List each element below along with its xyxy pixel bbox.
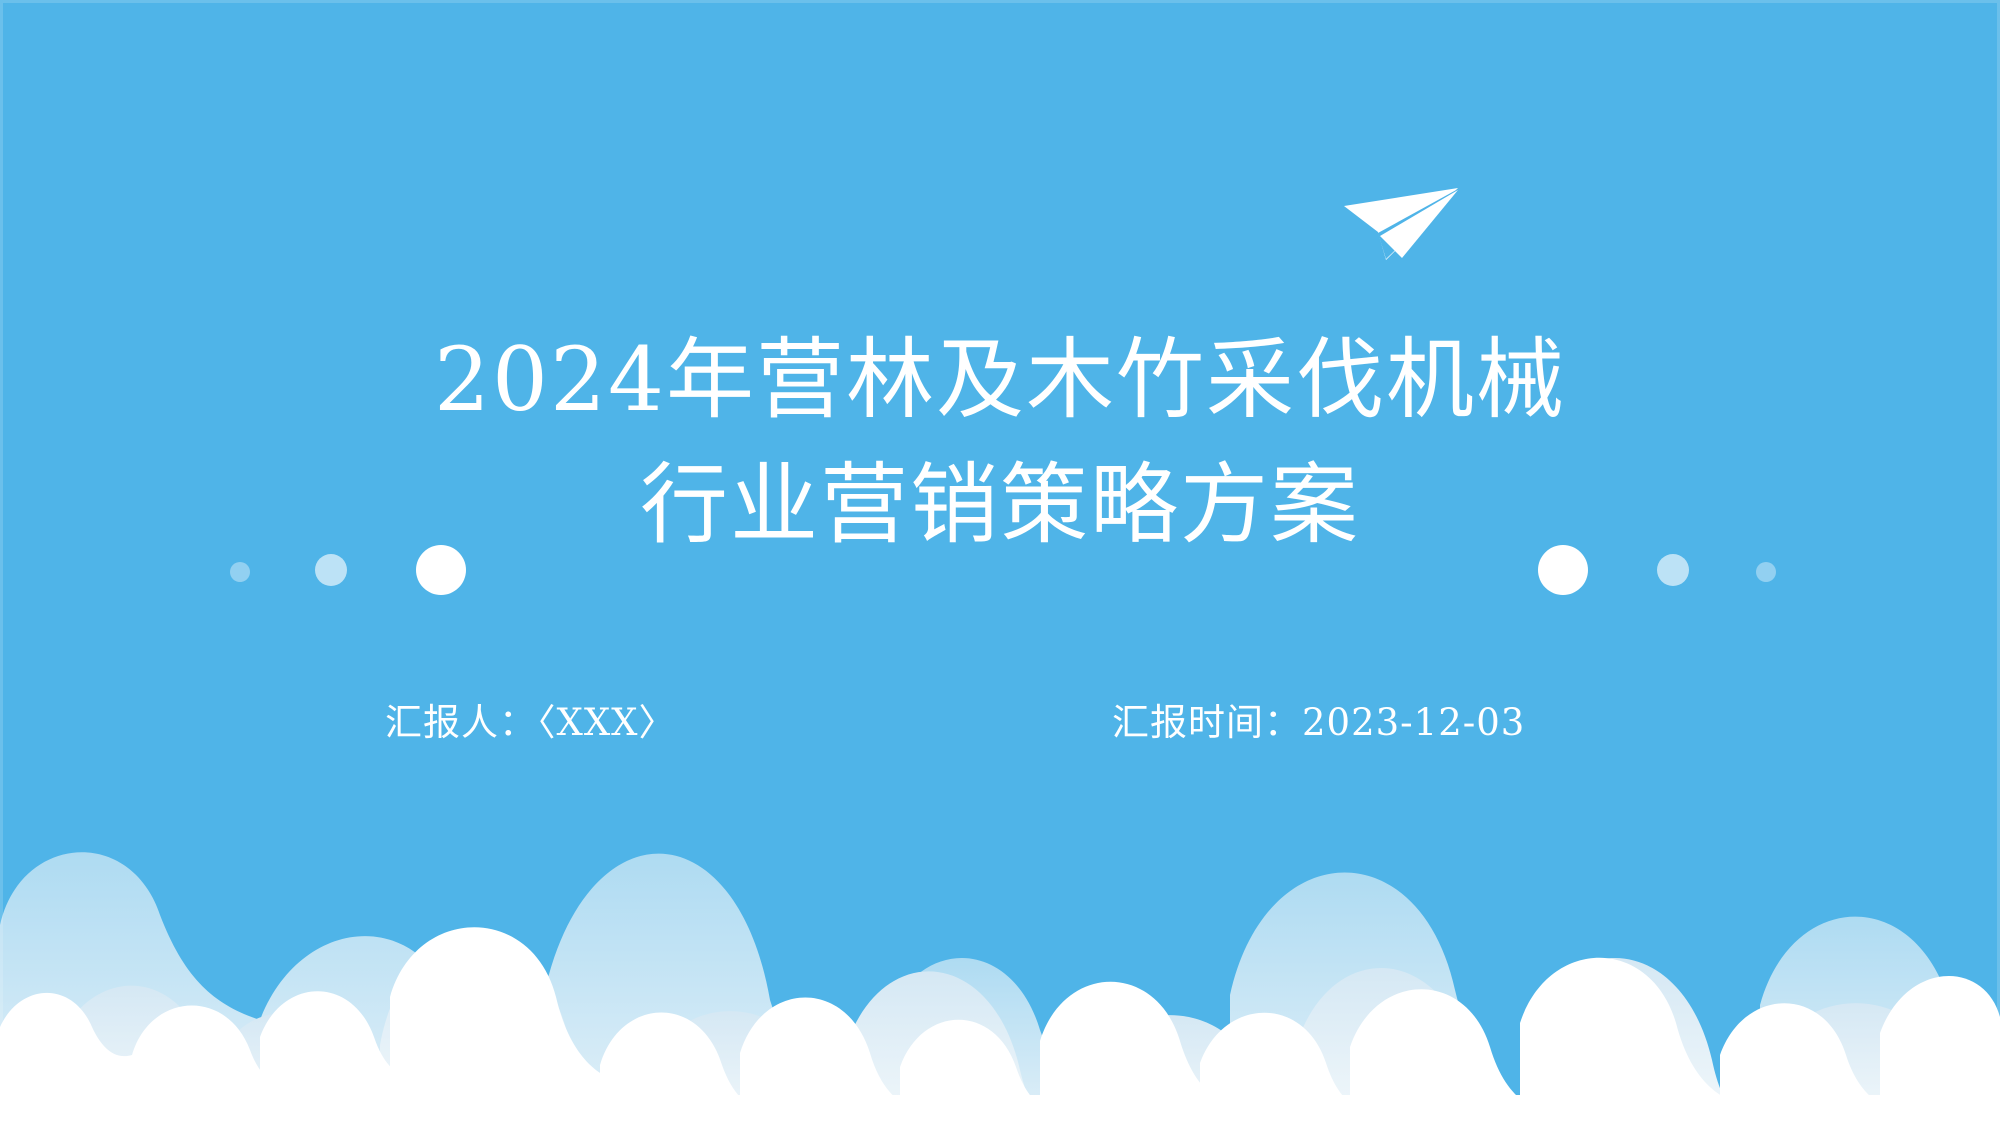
title-line-1: 2024年营林及木竹采伐机械 (0, 318, 2000, 443)
presenter-label: 汇报人：〈XXX〉 (385, 692, 677, 746)
cloud-decoration (0, 765, 2000, 1125)
page-title: 2024年营林及木竹采伐机械 行业营销策略方案 (0, 318, 2000, 568)
title-slide: 2024年营林及木竹采伐机械 行业营销策略方案 汇报人：〈XXX〉 汇报时间：2… (0, 0, 2000, 1125)
paper-plane-icon (1342, 186, 1462, 266)
title-line-2: 行业营销策略方案 (0, 443, 2000, 568)
meta-row: 汇报人：〈XXX〉 汇报时间：2023-12-03 (0, 692, 2000, 752)
report-date-label: 汇报时间：2023-12-03 (1112, 692, 1525, 746)
